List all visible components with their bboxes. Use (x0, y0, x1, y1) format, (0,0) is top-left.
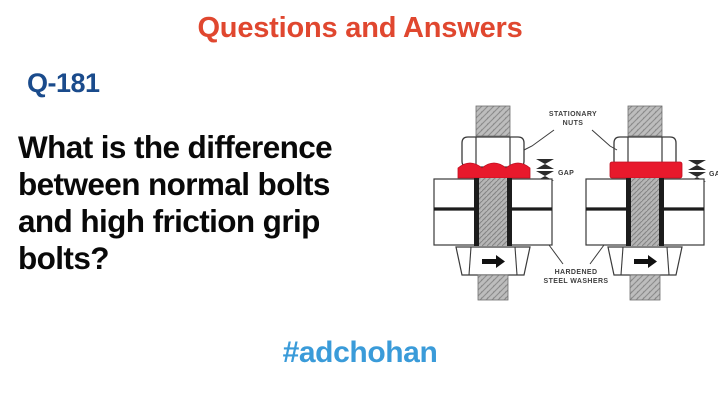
stationary-nuts-label-line1: STATIONARY (549, 111, 597, 118)
plate-outer-left (434, 179, 476, 245)
bolt-shank-mid-left (478, 178, 508, 246)
plate-inner-right (662, 179, 704, 245)
bolt-shank-upper-left (476, 106, 510, 136)
bolt-shank-edge-right-b (659, 178, 664, 246)
question-line-4: bolts? (18, 240, 448, 277)
slide-canvas: Questions and Answers Q-181 What is the … (0, 0, 720, 404)
red-washer-left (458, 163, 530, 178)
question-line-3: and high friction grip (18, 203, 448, 240)
hardened-steel-washers-label-line2: STEEL WASHERS (544, 278, 609, 285)
hardened-steel-washers-label-line1: HARDENED (555, 269, 598, 276)
bolt-shank-edge-left-a (474, 178, 479, 246)
bolt-shank-lower-right (630, 275, 660, 300)
bolt-shank-upper-right (628, 106, 662, 136)
stationary-nut-left (462, 137, 524, 167)
bolt-shank-lower-left (478, 275, 508, 300)
question-text: What is the difference between normal bo… (18, 129, 448, 276)
diagram-svg: GAP (432, 96, 718, 302)
red-washer-right (610, 162, 682, 178)
bolted-connection-comparison-diagram: GAP (432, 96, 718, 302)
bolt-shank-mid-right (630, 178, 660, 246)
gap-label-left: GAP (558, 170, 574, 177)
page-title: Questions and Answers (0, 12, 720, 45)
question-line-1: What is the difference (18, 129, 448, 166)
stationary-nuts-label-line2: NUTS (563, 120, 584, 127)
plate-outer-right (586, 179, 628, 245)
question-line-2: between normal bolts (18, 166, 448, 203)
question-number-badge: Q-181 (27, 68, 100, 99)
bolt-shank-edge-left-b (507, 178, 512, 246)
gap-label-right: GAP (709, 171, 718, 178)
plate-inner-left (510, 179, 552, 245)
bolt-shank-edge-right-a (626, 178, 631, 246)
hashtag-credit: #adchohan (0, 336, 720, 370)
